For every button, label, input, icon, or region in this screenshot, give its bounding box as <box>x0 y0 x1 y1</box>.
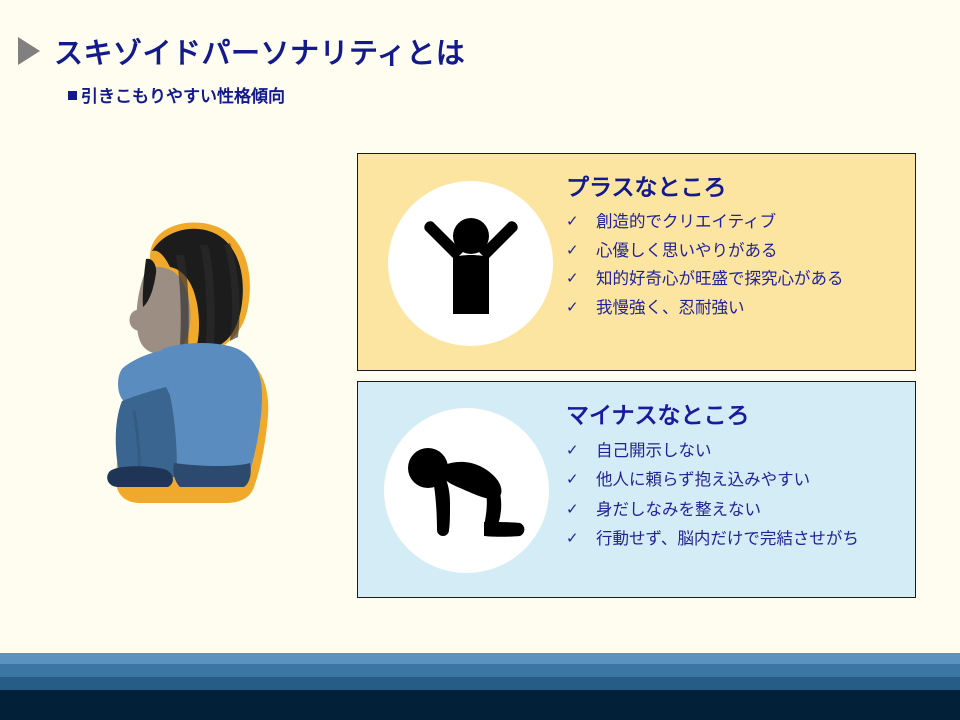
check-icon: ✓ <box>566 443 596 458</box>
check-icon: ✓ <box>566 472 596 487</box>
list-item-label: 自己開示しない <box>596 443 712 460</box>
list-item: ✓ 知的好奇心が旺盛で探究心がある <box>566 265 907 294</box>
square-bullet-icon <box>68 91 77 100</box>
check-icon: ✓ <box>566 502 596 517</box>
minus-check-list: ✓ 自己開示しない ✓ 他人に頼らず抱え込みやすい ✓ 身だしなみを整えない ✓… <box>566 436 907 554</box>
list-item-label: 身だしなみを整えない <box>596 502 761 519</box>
list-item-label: 我慢強く、忍耐強い <box>596 300 745 317</box>
list-item-label: 心優しく思いやりがある <box>596 243 778 260</box>
list-item: ✓ 自己開示しない <box>566 436 907 466</box>
slide-title-row: スキゾイドパーソナリティとは <box>18 30 465 72</box>
page-title: スキゾイドパーソナリティとは <box>54 30 465 72</box>
person-arms-raised-icon <box>388 181 553 346</box>
minus-panel-heading: マイナスなところ <box>566 396 907 430</box>
list-item: ✓ 他人に頼らず抱え込みやすい <box>566 466 907 496</box>
check-icon: ✓ <box>566 214 596 229</box>
footer-band-1 <box>0 653 960 664</box>
huddled-person-illustration <box>88 215 303 520</box>
plus-panel-heading: プラスなところ <box>566 168 907 202</box>
minus-panel-body: マイナスなところ ✓ 自己開示しない ✓ 他人に頼らず抱え込みやすい ✓ 身だし… <box>566 396 907 554</box>
check-icon: ✓ <box>566 300 596 315</box>
list-item: ✓ 心優しく思いやりがある <box>566 237 907 266</box>
list-item-label: 知的好奇心が旺盛で探究心がある <box>596 271 844 288</box>
footer-band-3 <box>0 677 960 690</box>
plus-check-list: ✓ 創造的でクリエイティブ ✓ 心優しく思いやりがある ✓ 知的好奇心が旺盛で探… <box>566 208 907 322</box>
list-item-label: 創造的でクリエイティブ <box>596 214 776 231</box>
plus-panel-body: プラスなところ ✓ 創造的でクリエイティブ ✓ 心優しく思いやりがある ✓ 知的… <box>566 168 907 322</box>
plus-panel: プラスなところ ✓ 創造的でクリエイティブ ✓ 心優しく思いやりがある ✓ 知的… <box>357 153 916 371</box>
check-icon: ✓ <box>566 243 596 258</box>
footer-band-2 <box>0 664 960 677</box>
slide-subtitle-row: 引きこもりやすい性格傾向 <box>68 82 285 107</box>
check-icon: ✓ <box>566 531 596 546</box>
person-crawling-icon <box>384 408 549 573</box>
list-item: ✓ 行動せず、脳内だけで完結させがち <box>566 525 907 555</box>
list-item-label: 行動せず、脳内だけで完結させがち <box>596 531 859 548</box>
minus-panel: マイナスなところ ✓ 自己開示しない ✓ 他人に頼らず抱え込みやすい ✓ 身だし… <box>357 381 916 598</box>
list-item: ✓ 身だしなみを整えない <box>566 495 907 525</box>
slide-canvas: スキゾイドパーソナリティとは 引きこもりやすい性格傾向 <box>0 0 960 720</box>
page-subtitle: 引きこもりやすい性格傾向 <box>81 82 285 107</box>
list-item: ✓ 我慢強く、忍耐強い <box>566 294 907 323</box>
list-item-label: 他人に頼らず抱え込みやすい <box>596 472 810 489</box>
list-item: ✓ 創造的でクリエイティブ <box>566 208 907 237</box>
check-icon: ✓ <box>566 271 596 286</box>
footer-band-4 <box>0 690 960 720</box>
triangle-right-icon <box>18 37 40 65</box>
